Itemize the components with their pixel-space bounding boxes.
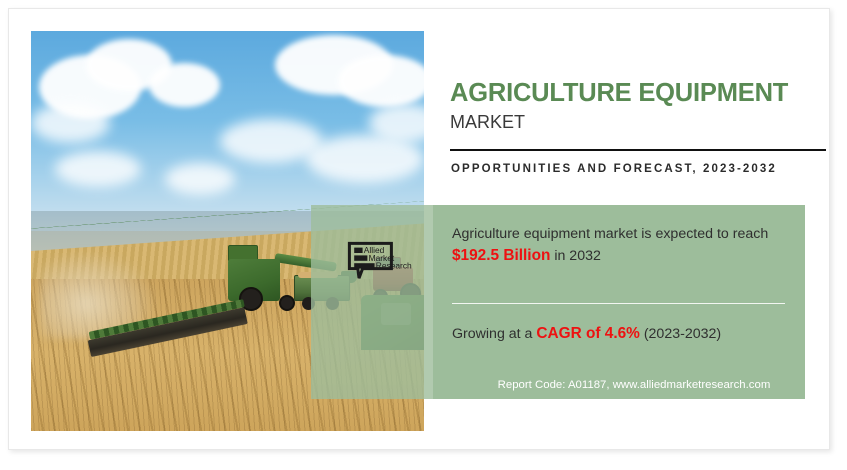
panel-divider bbox=[452, 303, 785, 304]
panel-photo-overlay bbox=[311, 205, 433, 399]
cloud-icon bbox=[338, 55, 424, 107]
stats-panel: Agriculture equipment market is expected… bbox=[433, 205, 805, 399]
market-size-statement: Agriculture equipment market is expected… bbox=[452, 224, 776, 267]
combine-wheel bbox=[279, 295, 295, 311]
report-code: Report Code: A01187, www.alliedmarketres… bbox=[433, 379, 805, 391]
cagr-suffix: (2023-2032) bbox=[640, 326, 721, 342]
market-size-prefix: Agriculture equipment market is expected… bbox=[452, 226, 768, 242]
cloud-icon bbox=[149, 63, 220, 107]
title-sub: MARKET bbox=[450, 110, 828, 134]
cloud-icon bbox=[165, 163, 236, 195]
cloud-icon bbox=[31, 103, 110, 143]
allied-market-research-logo: Allied Market Research bbox=[347, 241, 425, 283]
title-divider bbox=[450, 149, 826, 151]
cagr-prefix: Growing at a bbox=[452, 326, 536, 342]
cagr-value: CAGR of 4.6% bbox=[536, 325, 639, 342]
title-main: AGRICULTURE EQUIPMENT bbox=[450, 79, 828, 108]
subtitle: OPPORTUNITIES AND FORECAST, 2023-2032 bbox=[451, 159, 829, 179]
cagr-statement: Growing at a CAGR of 4.6% (2023-2032) bbox=[452, 323, 776, 345]
market-size-value: $192.5 Billion bbox=[452, 247, 550, 264]
report-card: Allied Market Research AGRICULTURE EQUIP… bbox=[8, 8, 830, 450]
page-title: AGRICULTURE EQUIPMENT MARKET bbox=[450, 79, 828, 134]
market-size-suffix: in 2032 bbox=[550, 248, 601, 264]
cloud-icon bbox=[55, 151, 141, 187]
logo-line-3: Research bbox=[376, 261, 412, 271]
